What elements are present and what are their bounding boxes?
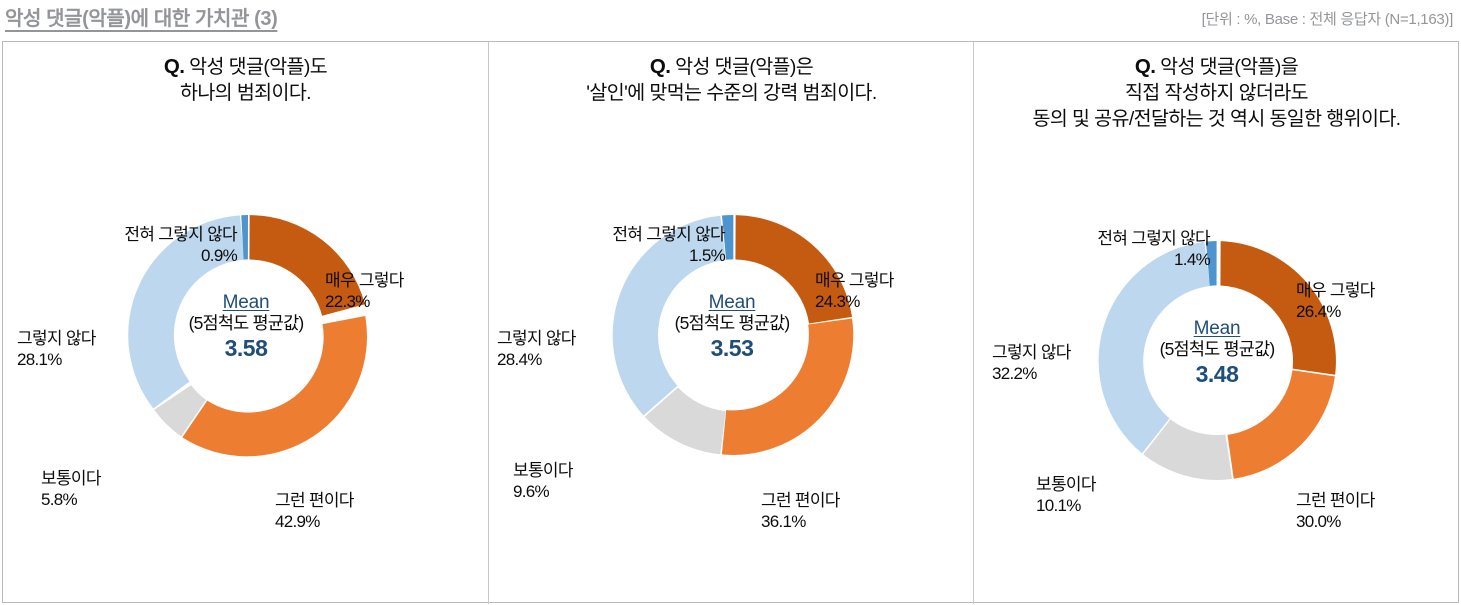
slice-value-text: 24.3%: [815, 291, 894, 312]
slice-label-text: 매우 그렇다: [815, 271, 894, 290]
page-title: 악성 댓글(악플)에 대한 가치관 (3): [5, 2, 277, 31]
question-title-1: Q. 악성 댓글(악플)도 하나의 범죄이다.: [3, 54, 488, 106]
slice-value-text: 1.5%: [507, 245, 725, 266]
label-neutral-1: 보통이다 5.8%: [41, 468, 101, 510]
question-line: '살인'에 맞먹는 수준의 강력 범죄이다.: [489, 80, 974, 106]
slice-value-text: 22.3%: [325, 291, 404, 312]
mean-sublabel: (5점척도 평균값): [115, 314, 377, 334]
slice-value-text: 28.4%: [497, 349, 576, 370]
question-line: 동의 및 공유/전달하는 것 역시 동일한 행위이다.: [974, 106, 1459, 132]
question-prefix: Q.: [1135, 55, 1155, 78]
question-line: 직접 작성하지 않더라도: [974, 80, 1459, 106]
mean-sublabel: (5점척도 평균값): [1086, 340, 1348, 360]
label-somewhat-agree-1: 그런 편이다 42.9%: [275, 490, 354, 532]
slice-label-text: 전혀 그렇지 않다: [124, 225, 237, 244]
slice-label-text: 매우 그렇다: [1296, 281, 1375, 300]
slice-value-text: 1.4%: [1000, 249, 1210, 270]
chart-column-1: Q. 악성 댓글(악플)도 하나의 범죄이다.: [3, 42, 488, 604]
mean-value: 3.53: [601, 336, 863, 362]
slice-value-text: 30.0%: [1296, 511, 1375, 532]
label-somewhat-agree-2: 그런 편이다 36.1%: [761, 490, 840, 532]
chart-column-3: Q. 악성 댓글(악플)을 직접 작성하지 않더라도 동의 및 공유/전달하는 …: [974, 42, 1459, 604]
label-strongly-disagree-1: 전혀 그렇지 않다 0.9%: [27, 224, 237, 266]
slice-label-text: 보통이다: [1036, 475, 1096, 494]
question-line: 악성 댓글(악플)은: [675, 56, 813, 78]
unit-base-note: [단위 : %, Base : 전체 응답자 (N=1,163)]: [1202, 8, 1453, 29]
label-neutral-3: 보통이다 10.1%: [1036, 474, 1096, 516]
page-header: 악성 댓글(악플)에 대한 가치관 (3) [단위 : %, Base : 전체…: [0, 0, 1461, 38]
slice-label-text: 전혀 그렇지 않다: [1097, 229, 1210, 248]
mean-block-3: Mean (5점척도 평균값) 3.48: [1086, 318, 1348, 388]
mean-value: 3.48: [1086, 362, 1348, 388]
label-somewhat-agree-3: 그런 편이다 30.0%: [1296, 490, 1375, 532]
question-line: 악성 댓글(악플)을: [1160, 56, 1298, 78]
slice-value-text: 32.2%: [992, 363, 1071, 384]
slice-label-text: 그렇지 않다: [992, 343, 1071, 362]
question-line: 하나의 범죄이다.: [3, 80, 488, 106]
slice-value-text: 5.8%: [41, 489, 101, 510]
slice-value-text: 36.1%: [761, 511, 840, 532]
slice-value-text: 42.9%: [275, 511, 354, 532]
slice-label-text: 그렇지 않다: [17, 329, 96, 348]
label-very-agree-2: 매우 그렇다 24.3%: [815, 270, 894, 312]
label-strongly-disagree-3: 전혀 그렇지 않다 1.4%: [1000, 228, 1210, 270]
slice-label-text: 그런 편이다: [761, 491, 840, 510]
mean-value: 3.58: [115, 336, 377, 362]
mean-sublabel: (5점척도 평균값): [601, 314, 863, 334]
question-title-3: Q. 악성 댓글(악플)을 직접 작성하지 않더라도 동의 및 공유/전달하는 …: [974, 54, 1459, 132]
charts-panel: Q. 악성 댓글(악플)도 하나의 범죄이다.: [2, 41, 1459, 603]
question-title-2: Q. 악성 댓글(악플)은 '살인'에 맞먹는 수준의 강력 범죄이다.: [489, 54, 974, 106]
slice-value-text: 26.4%: [1296, 301, 1375, 322]
question-prefix: Q.: [164, 55, 184, 78]
slice-value-text: 10.1%: [1036, 495, 1096, 516]
label-disagree-2: 그렇지 않다 28.4%: [497, 328, 576, 370]
question-line: 악성 댓글(악플)도: [189, 56, 327, 78]
label-neutral-2: 보통이다 9.6%: [513, 460, 573, 502]
chart-column-2: Q. 악성 댓글(악플)은 '살인'에 맞먹는 수준의 강력 범죄이다.: [489, 42, 974, 604]
slice-value-text: 9.6%: [513, 481, 573, 502]
label-disagree-3: 그렇지 않다 32.2%: [992, 342, 1071, 384]
label-very-agree-3: 매우 그렇다 26.4%: [1296, 280, 1375, 322]
label-strongly-disagree-2: 전혀 그렇지 않다 1.5%: [507, 224, 725, 266]
slice-label-text: 그런 편이다: [1296, 491, 1375, 510]
slice-label-text: 그렇지 않다: [497, 329, 576, 348]
label-disagree-1: 그렇지 않다 28.1%: [17, 328, 96, 370]
slice-label-text: 보통이다: [41, 469, 101, 488]
slice-label-text: 보통이다: [513, 461, 573, 480]
slice-label-text: 그런 편이다: [275, 491, 354, 510]
slice-value-text: 0.9%: [27, 245, 237, 266]
label-very-agree-1: 매우 그렇다 22.3%: [325, 270, 404, 312]
slice-value-text: 28.1%: [17, 349, 96, 370]
slice-label-text: 매우 그렇다: [325, 271, 404, 290]
slice-label-text: 전혀 그렇지 않다: [612, 225, 725, 244]
question-prefix: Q.: [650, 55, 670, 78]
